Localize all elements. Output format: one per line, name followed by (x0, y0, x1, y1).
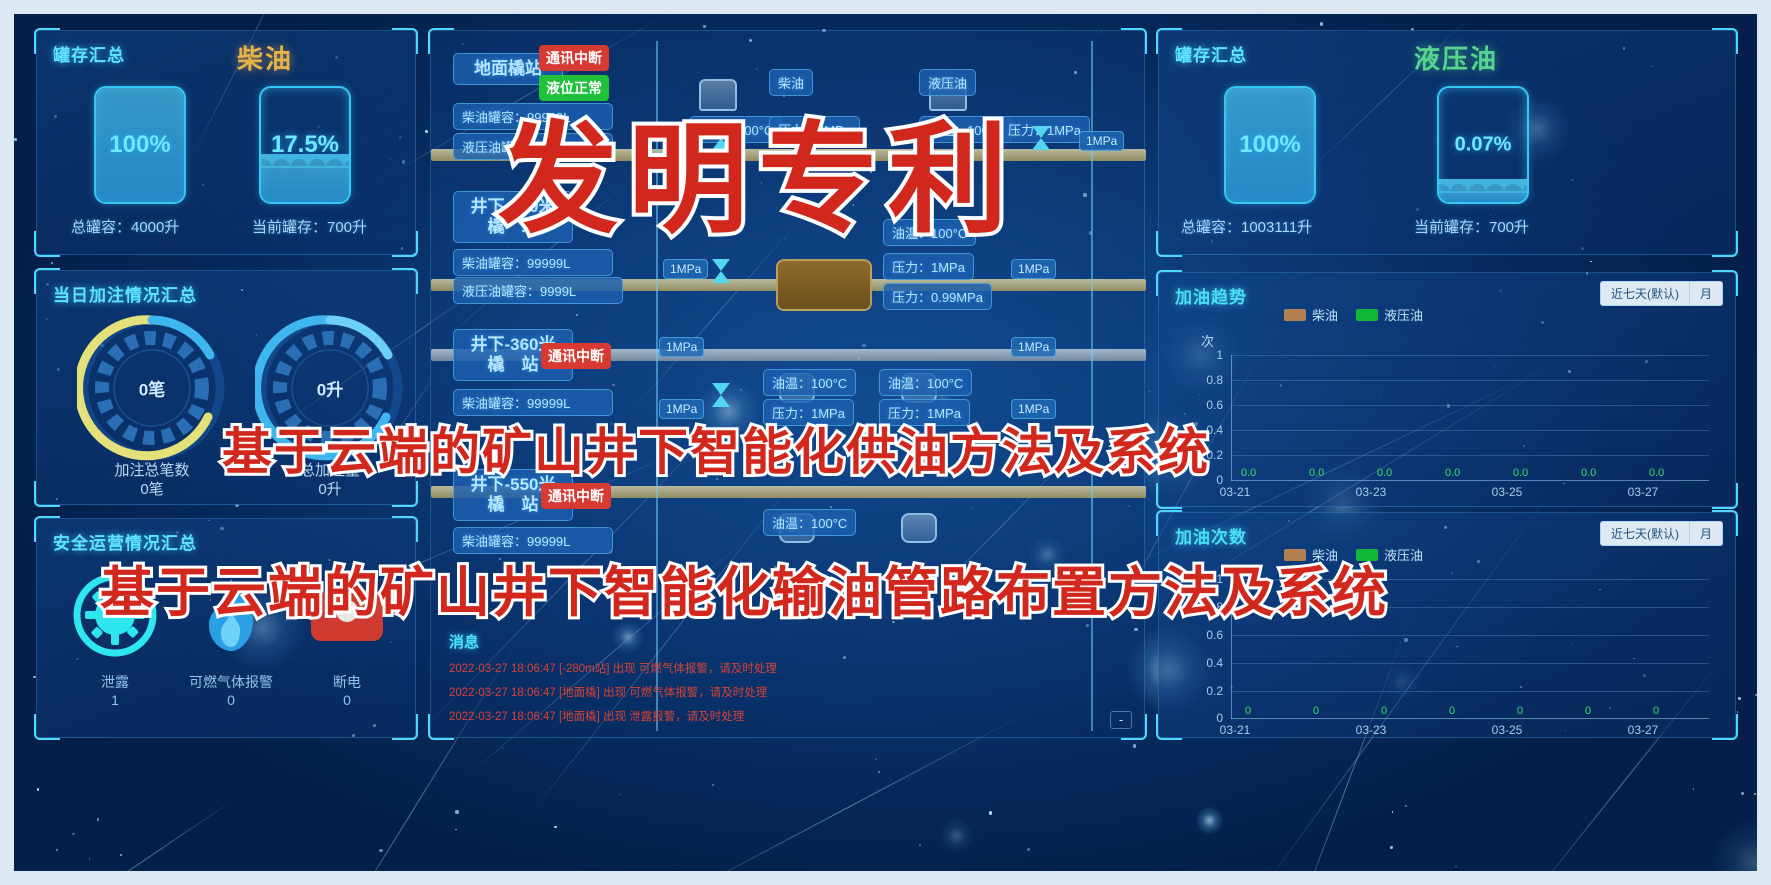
range-selector-trend[interactable]: 近七天(默认) 月 (1600, 281, 1723, 306)
vessel-row4-right (901, 513, 937, 543)
particle-dot (1455, 866, 1456, 867)
particle-dot (37, 788, 40, 791)
particle-dot (425, 130, 428, 133)
data-label: 0 (1517, 705, 1523, 717)
range-selector-count[interactable]: 近七天(默认) 月 (1600, 521, 1723, 546)
tank-gauge-total: 100% (1224, 86, 1316, 204)
particle-dot (703, 25, 706, 28)
particle-dot (619, 794, 621, 796)
particle-dot (89, 858, 91, 860)
pressure-tag: 1MPa (1011, 337, 1056, 357)
x-tick: 03-27 (1619, 485, 1667, 499)
particle-dot (10, 744, 12, 746)
panel-title-daily-refuel: 当日加注情况汇总 (53, 281, 197, 306)
particle-dot (815, 7, 817, 9)
watermark-title: 发明专利 (498, 82, 1018, 256)
particle-dot (455, 810, 458, 813)
station-badge-comm-ground: 通讯中断 (539, 45, 609, 71)
pressure-tag: 1MPa (663, 259, 708, 279)
data-label: 0 (1245, 705, 1251, 717)
gridline (1231, 355, 1709, 356)
dashboard-root: 罐存汇总 柴油 100% 17.5% 总罐容：4000升 当前罐存：700升 当… (0, 0, 1771, 885)
particle-dot (97, 818, 99, 820)
particle-dot (989, 811, 992, 814)
tank-fill (261, 166, 349, 202)
data-label: 0.0 (1445, 467, 1460, 479)
x-tick: 03-25 (1483, 485, 1531, 499)
particle-dot (1320, 22, 1323, 25)
vessel-row4-temp: 油温：100°C (763, 509, 856, 536)
gridline (1231, 691, 1709, 692)
particle-dot (1693, 788, 1694, 789)
particle-dot (51, 262, 53, 264)
particle-dot (14, 138, 17, 141)
corner-decor (1712, 483, 1738, 509)
current-stock-label: 当前罐存：700升 (252, 216, 367, 237)
station-badge-comm-360: 通讯中断 (541, 343, 611, 369)
particle-dot (919, 844, 921, 846)
message-log-line: 2022-03-27 18:06:47 [地面橇] 出现 泄露报警，请及时处理 (449, 708, 1049, 724)
gauge-refuel-count-value: 0笔 (77, 376, 227, 401)
corner-decor (1712, 231, 1738, 257)
y-tick: 1 (1189, 348, 1223, 362)
particle-dot (875, 758, 877, 760)
particle-dot (1738, 697, 1741, 700)
y-axis (1231, 355, 1232, 481)
vessel-row3-temp-1: 油温：100°C (763, 369, 856, 396)
particle-dot (712, 784, 715, 787)
y-tick: 0.4 (1189, 656, 1223, 670)
total-capacity-label: 总罐容：1003111升 (1181, 216, 1312, 237)
particle-dot (1709, 7, 1710, 8)
range-button-week[interactable]: 近七天(默认) (1600, 281, 1690, 306)
watermark-line-2: 基于云端的矿山井下智能化输油管路布置方法及系统 (100, 548, 1388, 627)
vessel-row3-temp-2: 油温：100°C (879, 369, 972, 396)
message-log-title: 消息 (449, 631, 1049, 652)
tank-percent-total: 100% (96, 131, 184, 159)
gridline (1231, 663, 1709, 664)
data-label: 0 (1381, 705, 1387, 717)
particle-glow (1711, 818, 1771, 885)
x-axis (1231, 480, 1709, 481)
tank-percent-current: 17.5% (261, 131, 349, 159)
legend-label-hydraulic: 液压油 (1384, 305, 1423, 324)
message-log-line: 2022-03-27 18:06:47 [-280m站] 出现 可燃气体报警，请… (449, 660, 1049, 676)
particle-dot (455, 829, 457, 831)
data-label: 0 (1653, 705, 1659, 717)
panel-refuel-trend-chart: 加油趋势 近七天(默认) 月 柴油 液压油 次 1 (1158, 272, 1736, 507)
tank-gauge-current: 17.5% (259, 86, 351, 204)
pressure-tag: 1MPa (1079, 131, 1124, 151)
legend-label-diesel: 柴油 (1312, 305, 1338, 324)
x-tick: 03-25 (1483, 723, 1531, 737)
safety-item-label: 泄露 (55, 672, 175, 692)
gridline (1231, 430, 1709, 431)
station-badge-comm-550: 通讯中断 (541, 483, 611, 509)
x-tick: 03-21 (1211, 723, 1259, 737)
data-label: 0.0 (1309, 467, 1324, 479)
particle-dot (1590, 261, 1591, 262)
panel-hydraulic-stock: 罐存汇总 液压油 100% 0.07% 总罐容：1003111升 当前罐存：70… (1158, 30, 1736, 255)
pressure-tag: 1MPa (1011, 259, 1056, 279)
corner-decor (392, 28, 418, 54)
corner-decor (392, 516, 418, 542)
oil-type-label-diesel: 柴油 (237, 39, 293, 76)
legend-swatch-diesel (1284, 309, 1306, 321)
zoom-out-button[interactable]: - (1110, 711, 1132, 729)
gridline (1231, 455, 1709, 456)
total-capacity-label: 总罐容：4000升 (71, 216, 179, 237)
particle-dot (1754, 793, 1756, 795)
corner-decor (34, 481, 60, 507)
corner-decor (392, 231, 418, 257)
particle-dot (878, 771, 880, 773)
x-tick: 03-21 (1211, 485, 1259, 499)
gridline (1231, 635, 1709, 636)
y-tick: 0.8 (1189, 373, 1223, 387)
chart-title-refuel-count: 加油次数 (1175, 523, 1247, 548)
legend-swatch-hydraulic (1356, 309, 1378, 321)
x-tick: 03-23 (1347, 723, 1395, 737)
safety-item-value: 1 (55, 692, 175, 708)
range-button-week[interactable]: 近七天(默认) (1600, 521, 1690, 546)
safety-item-label: 可燃气体报警 (171, 672, 291, 692)
y-tick: 0.2 (1189, 684, 1223, 698)
corner-decor (34, 231, 60, 257)
particle-dot (1741, 792, 1744, 795)
particle-dot (56, 849, 58, 851)
tank-gauge-current: 0.07% (1437, 86, 1529, 204)
message-log: 消息 2022-03-27 18:06:47 [-280m站] 出现 可燃气体报… (449, 631, 1049, 724)
vessel-mid-tank (776, 259, 872, 311)
particle-dot (729, 12, 732, 15)
tank-percent-total: 100% (1226, 131, 1314, 159)
particle-dot (1261, 3, 1265, 7)
safety-item-value: 0 (171, 692, 291, 708)
gauge-refuel-volume-value: 0升 (255, 376, 405, 401)
particle-dot (1392, 811, 1394, 813)
data-label: 0 (1449, 705, 1455, 717)
panel-title-diesel-stock: 罐存汇总 (53, 41, 125, 66)
corner-decor (1712, 714, 1738, 740)
tank-gauge-total: 100% (94, 86, 186, 204)
message-log-line: 2022-03-27 18:06:47 [地面橇] 出现 可燃气体报警，请及时处… (449, 684, 1049, 700)
watermark-line-1: 基于云端的矿山井下智能化供油方法及系统 (222, 412, 1210, 484)
y-tick: 0.6 (1189, 628, 1223, 642)
particle-dot (72, 833, 75, 836)
corner-decor (392, 714, 418, 740)
vessel-mid-press: 压力：1MPa (883, 253, 974, 280)
data-label: 0.0 (1377, 467, 1392, 479)
particle-dot (1133, 744, 1137, 748)
particle-streak (58, 798, 236, 885)
corner-decor (1156, 231, 1182, 257)
tank-percent-current: 0.07% (1439, 134, 1527, 157)
particle-dot (1737, 711, 1738, 712)
chart-legend-trend: 柴油 液压油 (1284, 305, 1423, 324)
station-tank-hyd-200: 液压油罐容：9999L (453, 277, 623, 304)
particle-dot (1265, 8, 1267, 10)
current-stock-label: 当前罐存：700升 (1414, 216, 1529, 237)
data-label: 0.0 (1513, 467, 1528, 479)
gauge-refuel-count: 0笔 (77, 313, 227, 463)
particle-dot (120, 854, 122, 856)
particle-dot (1027, 848, 1030, 851)
corner-decor (1156, 483, 1182, 509)
corner-decor (1121, 28, 1147, 54)
data-label: 0.0 (1649, 467, 1664, 479)
gridline (1231, 405, 1709, 406)
x-tick: 03-27 (1619, 723, 1667, 737)
particle-glow (939, 818, 974, 853)
particle-dot (554, 826, 557, 829)
y-tick: 0.6 (1189, 398, 1223, 412)
corner-decor (34, 714, 60, 740)
safety-item-label: 断电 (287, 672, 407, 692)
particle-dot (272, 879, 273, 880)
vessel-mid-press2: 压力：0.99MPa (883, 283, 992, 310)
oil-type-label-hydraulic: 液压油 (1414, 39, 1498, 76)
gauge-caption-line2: 0笔 (67, 480, 237, 499)
particle-dot (1149, 391, 1150, 392)
gauge-caption-line1: 加注总笔数 (67, 461, 237, 480)
gridline (1231, 380, 1709, 381)
corner-decor (1712, 28, 1738, 54)
chart-plot-area-trend: 1 0.8 0.6 0.4 0.2 0 0.0 0.0 0.0 0.0 0.0 … (1231, 355, 1709, 481)
data-label: 0.0 (1241, 467, 1256, 479)
particle-dot (1405, 805, 1407, 807)
panel-diesel-stock: 罐存汇总 柴油 100% 17.5% 总罐容：4000升 当前罐存：700升 (36, 30, 416, 255)
legend-label-hydraulic: 液压油 (1384, 545, 1423, 564)
gauge-refuel-count-caption: 加注总笔数 0笔 (67, 461, 237, 499)
particle-dot (502, 747, 503, 748)
x-axis (1231, 718, 1709, 719)
particle-dot (1755, 694, 1758, 697)
corner-decor (1156, 714, 1182, 740)
range-button-month[interactable]: 月 (1690, 521, 1723, 546)
x-tick: 03-23 (1347, 485, 1395, 499)
particle-dot (13, 666, 14, 667)
particle-dot (379, 849, 382, 852)
range-button-month[interactable]: 月 (1690, 281, 1723, 306)
data-label: 0.0 (1581, 467, 1596, 479)
corner-decor (428, 28, 454, 54)
panel-title-hydraulic-stock: 罐存汇总 (1175, 41, 1247, 66)
legend-item-diesel: 柴油 (1284, 305, 1338, 324)
particle-glow (1195, 806, 1225, 836)
corner-decor (392, 268, 418, 294)
pressure-tag: 1MPa (659, 337, 704, 357)
chart-title-refuel-trend: 加油趋势 (1175, 283, 1247, 308)
tank-wave (1437, 179, 1529, 193)
data-label: 0 (1585, 705, 1591, 717)
safety-item-value: 0 (287, 692, 407, 708)
data-label: 0 (1313, 705, 1319, 717)
particle-dot (1390, 846, 1393, 849)
legend-item-hydraulic: 液压油 (1356, 305, 1423, 324)
